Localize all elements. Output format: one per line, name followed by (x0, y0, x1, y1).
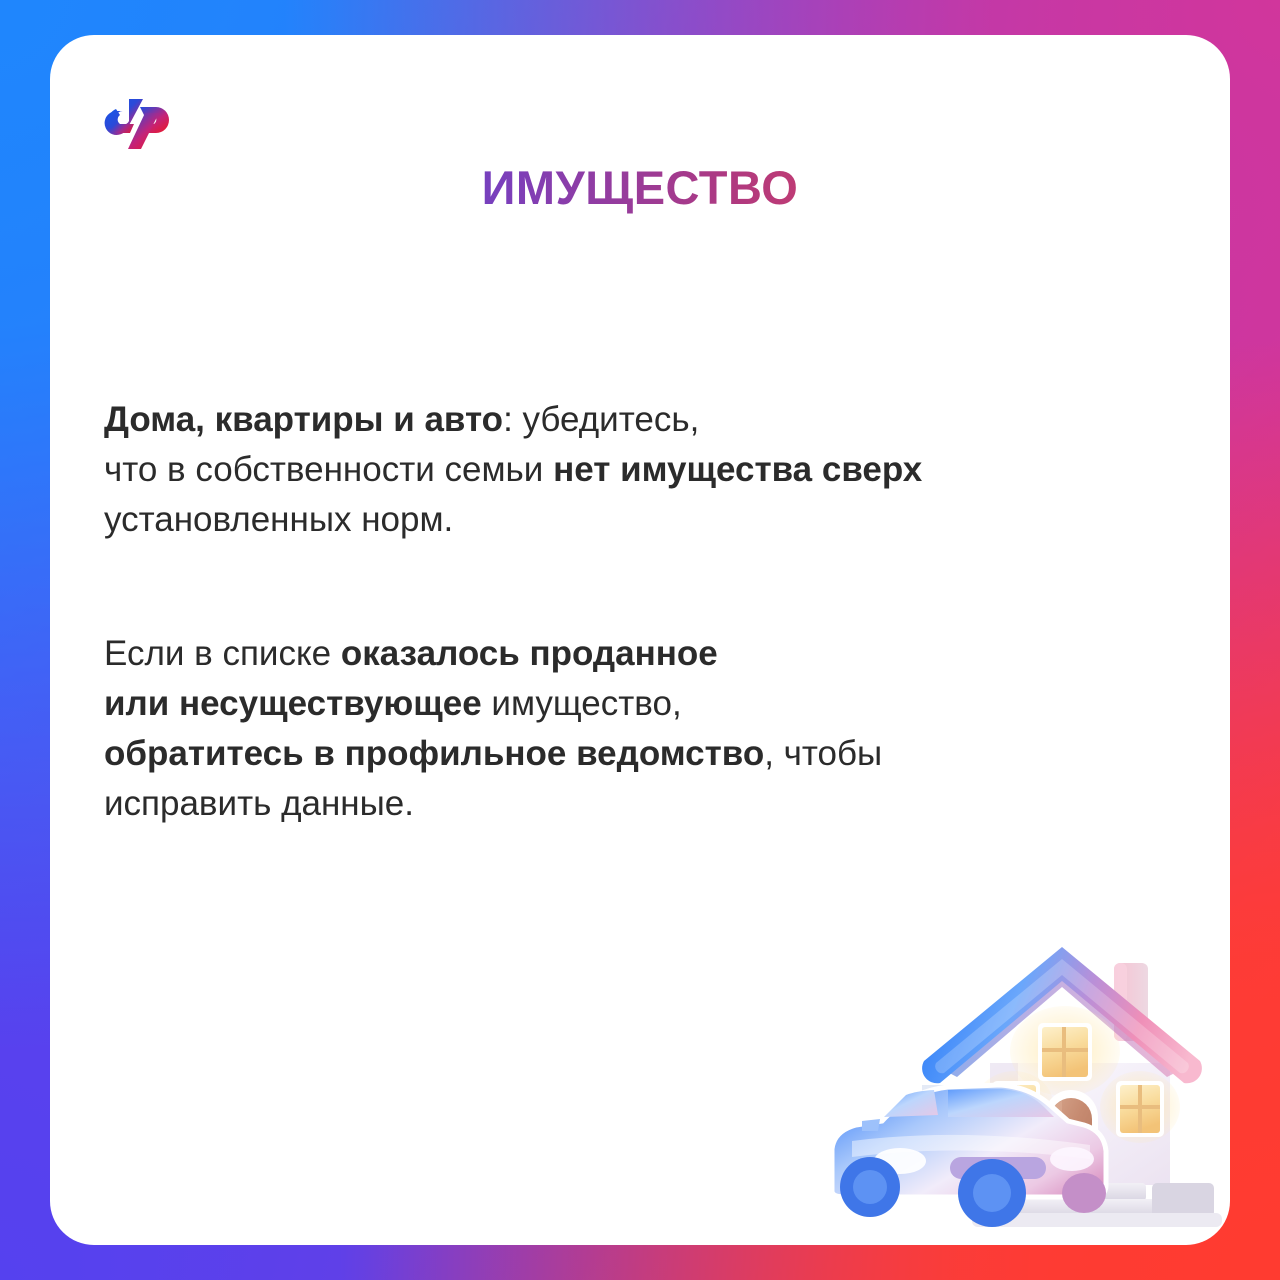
poster-background: ИМУЩЕСТВО Дома, квартиры и авто: убедите… (0, 0, 1280, 1280)
house-and-car-illustration (822, 945, 1222, 1245)
page-title: ИМУЩЕСТВО (50, 160, 1230, 215)
content-card: ИМУЩЕСТВО Дома, квартиры и авто: убедите… (50, 35, 1230, 1245)
body-copy: Дома, квартиры и авто: убедитесь,что в с… (104, 395, 1194, 829)
window-right (1116, 1081, 1164, 1137)
paragraph-wrong-data: Если в списке оказалось проданноеили нес… (104, 629, 1194, 829)
sfr-logo (96, 85, 192, 161)
paragraph-property-check: Дома, квартиры и авто: убедитесь,что в с… (104, 395, 1194, 545)
window-attic (1038, 1023, 1092, 1081)
